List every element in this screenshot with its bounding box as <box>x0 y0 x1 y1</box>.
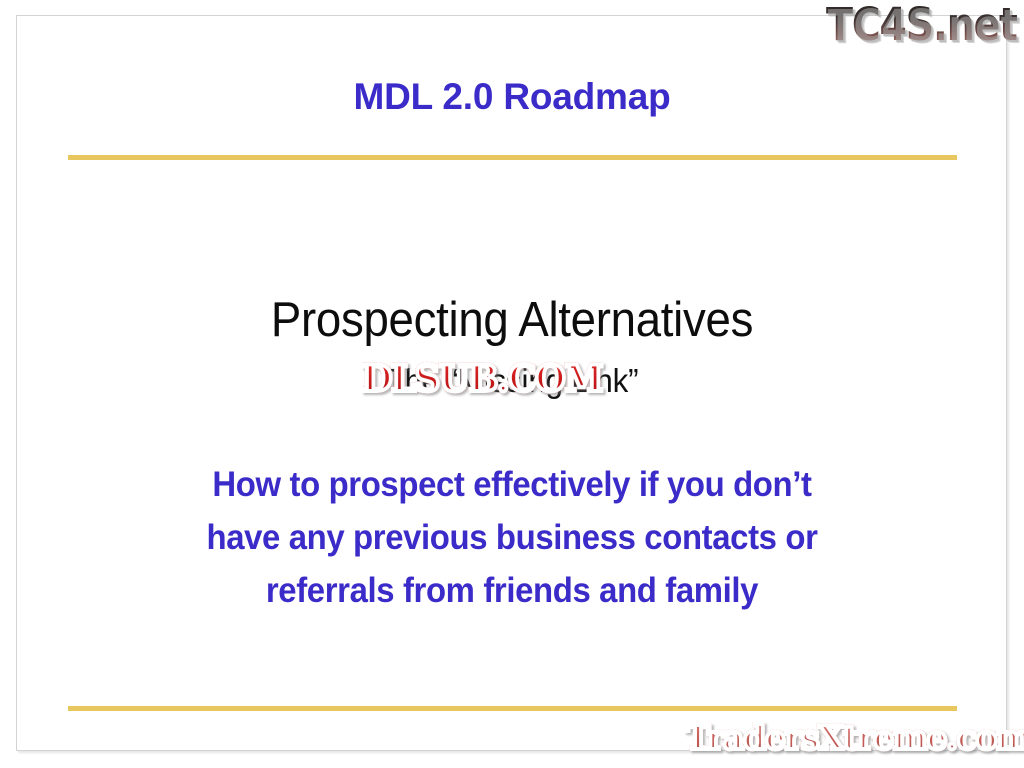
slide-root: MDL 2.0 Roadmap Prospecting Alternatives… <box>0 0 1024 768</box>
body-copy-line-1: How to prospect effectively if you don’t <box>134 458 890 511</box>
gold-divider-bottom <box>68 706 957 711</box>
body-copy: How to prospect effectively if you don’t… <box>134 458 890 617</box>
body-copy-line-2: have any previous business contacts or <box>134 511 890 564</box>
gold-divider-top <box>68 155 957 160</box>
page-title: MDL 2.0 Roadmap <box>0 76 1024 118</box>
body-copy-line-3: referrals from friends and family <box>134 564 890 617</box>
subheadline-text: The “Missing Link” <box>26 362 999 400</box>
headline-text: Prospecting Alternatives <box>36 292 988 348</box>
